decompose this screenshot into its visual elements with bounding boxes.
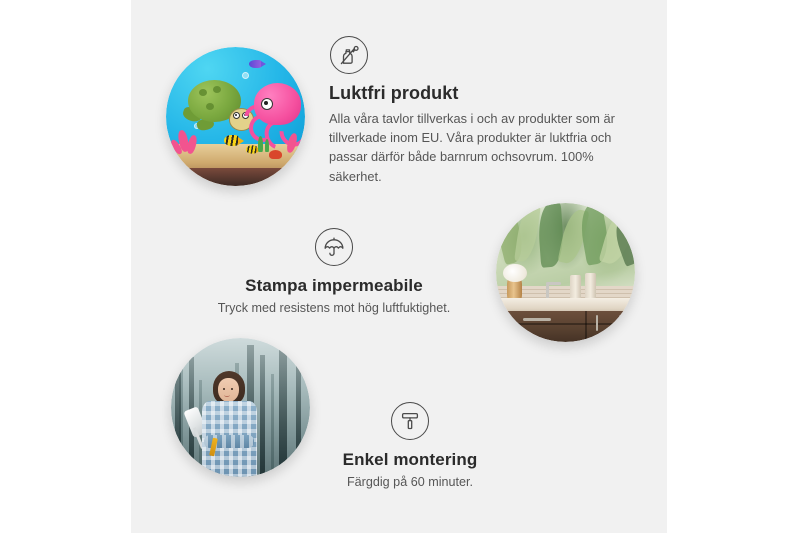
forest-scene [171,338,310,477]
purple-fish [249,60,262,68]
no-fragrance-icon [330,36,368,74]
yellow-fish [224,135,239,146]
page-root: Luktfri produkt Alla våra tavlor tillver… [0,0,800,533]
octopus-eye [261,98,273,110]
soap-dispenser [570,275,581,299]
feature-title: Stampa impermeabile [198,276,470,296]
turtle-shell-pattern [206,103,214,110]
seaweed [258,136,263,152]
tree-trunk [271,374,274,477]
feature-waterproof: Stampa impermeabile Tryck med resistens … [198,228,470,318]
bathroom-scene [496,203,635,342]
yellow-fish [246,146,257,154]
faucet-spout [546,282,561,285]
vanity-seam [504,323,635,325]
leaf-motif [514,204,541,263]
bathroom-leaf-wallpaper-disc [496,203,635,342]
woman-face [218,378,239,402]
tree-trunk [175,349,181,477]
feature-body: Alla våra tavlor tillverkas i och av pro… [329,109,619,186]
feature-odourless: Luktfri produkt Alla våra tavlor tillver… [329,36,619,186]
wood-vanity [504,311,635,342]
ocean-foreground-rocks [166,168,305,186]
cabinet-handle [619,315,622,331]
turtle-shell-pattern [199,89,207,96]
soap-dispenser [585,273,596,299]
woman-smile [224,393,230,397]
woman-eye [223,388,225,390]
feature-body: Tryck med resistens mot hög luftfuktighe… [198,299,470,318]
woman-eye [231,388,233,390]
white-flowers [503,264,527,282]
woman-paint-roller-forest-disc [171,338,310,477]
feature-title: Luktfri produkt [329,83,619,104]
drawer-handle [523,318,552,321]
cabinet-handle [596,315,599,331]
seaweed [265,139,269,152]
tree-trunk [296,360,301,477]
feature-title: Enkel montering [305,450,515,470]
underwater-scene [166,47,305,186]
underwater-kids-mural-disc [166,47,305,186]
umbrella-icon [315,228,353,266]
paint-roller-icon [391,402,429,440]
feature-easymount: Enkel montering Färgdig på 60 minuter. [305,402,515,492]
crab [269,150,282,159]
tree-trunk [260,355,265,477]
feature-body: Färgdig på 60 minuter. [305,473,515,492]
vanity-seam [585,311,587,342]
tree-trunk [279,344,287,477]
